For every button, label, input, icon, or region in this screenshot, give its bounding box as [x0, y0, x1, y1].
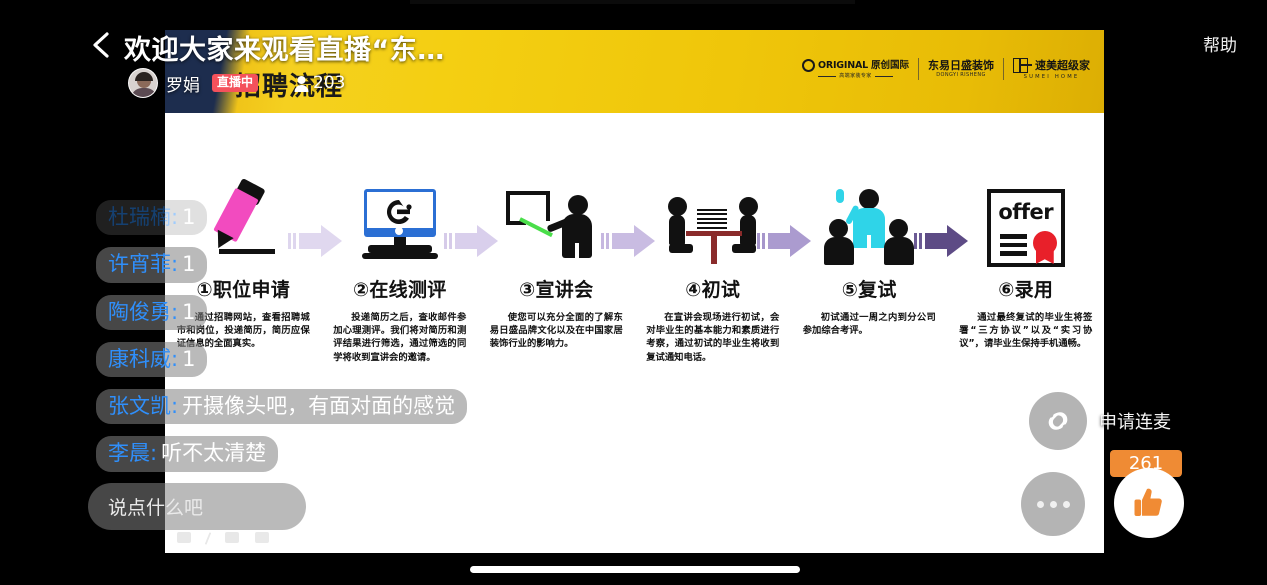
- thumbs-up-icon: [1114, 468, 1184, 538]
- step-6-title: ⑥录用: [948, 275, 1105, 302]
- step-6-icon-wrap: offer: [948, 183, 1105, 267]
- logo-original-en: ORIGINAL: [818, 61, 868, 71]
- host-name: 罗娟: [166, 71, 200, 96]
- step-4-title: ④初试: [635, 275, 792, 302]
- chat-sender-name: 杜瑞楠: [108, 204, 171, 230]
- chat-row: 康科威:1: [96, 342, 526, 377]
- logo-original-tagline: 高端家装专家: [839, 74, 871, 79]
- flow-arrow-3: [601, 223, 657, 259]
- chat-colon: :: [171, 299, 178, 325]
- more-options-button[interactable]: [1021, 472, 1085, 536]
- chat-message-text: 1: [182, 299, 195, 325]
- chat-input-placeholder: 说点什么吧: [108, 493, 203, 520]
- chat-colon: :: [171, 204, 178, 230]
- person-icon: [292, 74, 311, 93]
- offer-letter-icon: offer: [987, 189, 1065, 267]
- request-mic-label: 申请连麦: [1099, 408, 1171, 434]
- ellipsis-icon: [1063, 501, 1070, 508]
- chat-bubble: 陶俊勇:1: [96, 295, 207, 330]
- logo-dongyi-tagline: DONGYI RISHENG: [936, 73, 986, 78]
- interview-table-icon: [660, 187, 766, 267]
- link-mic-icon: [1029, 392, 1087, 450]
- step-4-desc: 在宣讲会现场进行初试，会对毕业生的基本能力和素质进行考察，通过初试的毕业生将收到…: [646, 311, 779, 364]
- chat-sender-name: 李晨: [108, 440, 150, 466]
- back-button[interactable]: [88, 30, 114, 60]
- like-button[interactable]: 261: [1110, 450, 1182, 550]
- logo-o-mark: [802, 59, 815, 72]
- live-stream-screen: 招聘流程 ORIGINAL 原创国际 高端家装专家: [0, 0, 1267, 585]
- brand-logos: ORIGINAL 原创国际 高端家装专家 东易日盛装饰 DONGYI RISHE…: [802, 58, 1090, 80]
- chat-sender-name: 许宵菲: [108, 251, 171, 277]
- toolbar-icon-4: [255, 532, 269, 543]
- flow-step-5: ⑤复试 初试通过一周之内到分公司参加综合考评。: [791, 183, 948, 364]
- ellipsis-icon: [1050, 501, 1057, 508]
- logo-original: ORIGINAL 原创国际 高端家装专家: [802, 59, 909, 79]
- chat-bubble: 张文凯:开摄像头吧，有面对面的感觉: [96, 389, 467, 424]
- chat-colon: :: [171, 251, 178, 277]
- chat-sender-name: 张文凯: [108, 393, 171, 419]
- chat-colon: :: [150, 440, 157, 466]
- chat-bubble: 杜瑞楠:1: [96, 200, 207, 235]
- host-info-row[interactable]: 罗娟 直播中 203: [128, 68, 345, 98]
- chat-row: 陶俊勇:1: [96, 295, 526, 330]
- status-badge: 直播中: [212, 74, 258, 92]
- logo-sumei-cn: 速美超级家: [1035, 60, 1090, 71]
- toolbar-icon-2: [205, 532, 212, 545]
- step-5-title: ⑤复试: [791, 275, 948, 302]
- chat-message-list[interactable]: 杜瑞楠:1 许宵菲:1 陶俊勇:1 康科威:1 张文凯:开摄像头吧，有面对面的感…: [96, 200, 526, 484]
- chat-bubble: 李晨:听不太清楚: [96, 436, 278, 471]
- flow-step-4: ④初试 在宣讲会现场进行初试，会对毕业生的基本能力和素质进行考察，通过初试的毕业…: [635, 183, 792, 364]
- status-bar-notch: [410, 0, 855, 4]
- logo-divider-1: [918, 58, 919, 80]
- flow-arrow-4: [757, 223, 813, 259]
- chat-message-text: 1: [182, 251, 195, 277]
- chat-input[interactable]: 说点什么吧: [88, 483, 306, 530]
- chat-row: 李晨:听不太清楚: [96, 436, 526, 471]
- offer-word: offer: [991, 200, 1061, 224]
- group-people-icon: [823, 187, 915, 267]
- step-6-desc: 通过最终复试的毕业生将签署“三方协议”以及“实习协议”，请毕业生保持手机通畅。: [959, 311, 1092, 351]
- toolbar-icon-1: [177, 532, 191, 543]
- logo-original-cn: 原创国际: [871, 61, 909, 71]
- help-button[interactable]: 帮助: [1203, 31, 1237, 56]
- viewer-count: 203: [313, 73, 345, 93]
- chat-row: 杜瑞楠:1: [96, 200, 526, 235]
- avatar[interactable]: [128, 68, 158, 98]
- chat-message-text: 听不太清楚: [161, 440, 266, 466]
- chat-colon: :: [171, 393, 178, 419]
- ellipsis-icon: [1037, 501, 1044, 508]
- step-5-desc: 初试通过一周之内到分公司参加综合考评。: [803, 311, 936, 337]
- logo-sumei: 速美超级家 SUMEI HOME: [1013, 58, 1090, 80]
- flow-step-6: offer ⑥录用 通过最终复试的毕业生将签署“三方协议”以及“实习协议”，请毕…: [948, 183, 1105, 364]
- slide-mini-toolbar[interactable]: [177, 532, 269, 545]
- chat-sender-name: 陶俊勇: [108, 299, 171, 325]
- home-indicator: [470, 566, 800, 573]
- viewer-counter: 203: [292, 73, 345, 93]
- chat-row: 张文凯:开摄像头吧，有面对面的感觉: [96, 389, 526, 424]
- logo-sumei-tagline: SUMEI HOME: [1024, 75, 1080, 80]
- logo-divider-2: [1003, 58, 1004, 80]
- chat-sender-name: 康科威: [108, 346, 171, 372]
- logo-sumei-mark: [1013, 58, 1028, 73]
- chat-bubble: 许宵菲:1: [96, 247, 207, 282]
- chat-message-text: 开摄像头吧，有面对面的感觉: [182, 393, 455, 419]
- logo-dongyi: 东易日盛装饰 DONGYI RISHENG: [928, 60, 994, 78]
- flow-arrow-5: [914, 223, 970, 259]
- chat-message-text: 1: [182, 346, 195, 372]
- chat-message-text: 1: [182, 204, 195, 230]
- request-mic-button[interactable]: 申请连麦: [1029, 392, 1171, 450]
- chat-colon: :: [171, 346, 178, 372]
- chat-row: 许宵菲:1: [96, 247, 526, 282]
- toolbar-icon-3: [225, 532, 239, 543]
- chat-bubble: 康科威:1: [96, 342, 207, 377]
- logo-dongyi-cn: 东易日盛装饰: [928, 60, 994, 71]
